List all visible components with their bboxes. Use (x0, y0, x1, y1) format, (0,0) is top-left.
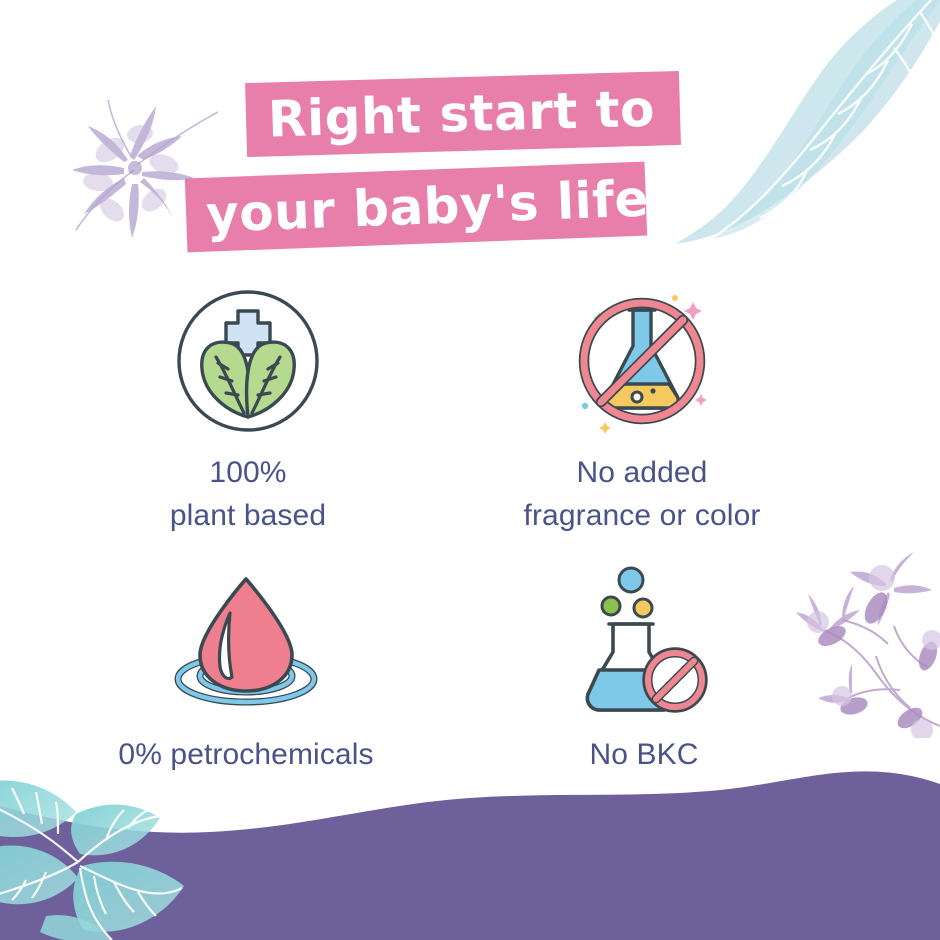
no-flask-prohibition-icon (563, 282, 721, 440)
feature-label-line-1: No BKC (590, 738, 699, 771)
feature-plant-based: 100% plant based (48, 286, 448, 537)
feature-label-no-bkc: No BKC (444, 734, 844, 777)
feature-icon-wrapper (444, 568, 844, 718)
flask-bubbles-prohibition-icon (569, 566, 719, 721)
feature-icon-wrapper (46, 568, 446, 718)
feature-icon-wrapper (442, 286, 842, 436)
feature-label-line-1: 0% petrochemicals (118, 738, 373, 771)
feature-icon-wrapper (48, 286, 448, 436)
watercolor-leaf-teal-icon (650, 0, 940, 272)
feature-label-line-1: 100% (209, 456, 286, 489)
leaf-cross-circle-icon (172, 285, 324, 437)
headline-line-2: your baby's life (185, 162, 647, 253)
feature-no-bkc: No BKC (444, 568, 844, 777)
feature-no-fragrance: No added fragrance or color (442, 286, 842, 537)
feature-label-line-1: No added (577, 456, 708, 489)
feature-label-plant-based: 100% plant based (48, 452, 448, 537)
droplet-ripple-icon (166, 573, 326, 713)
feature-label-no-petrochemicals: 0% petrochemicals (46, 734, 446, 777)
headline-line-1: Right start to (245, 71, 681, 157)
feature-label-line-2: plant based (48, 495, 448, 538)
feature-label-no-fragrance: No added fragrance or color (442, 452, 842, 537)
feature-no-petrochemicals: 0% petrochemicals (46, 568, 446, 777)
promo-graphic: Right start to your baby's life (0, 0, 940, 940)
feature-label-line-2: fragrance or color (442, 495, 842, 538)
